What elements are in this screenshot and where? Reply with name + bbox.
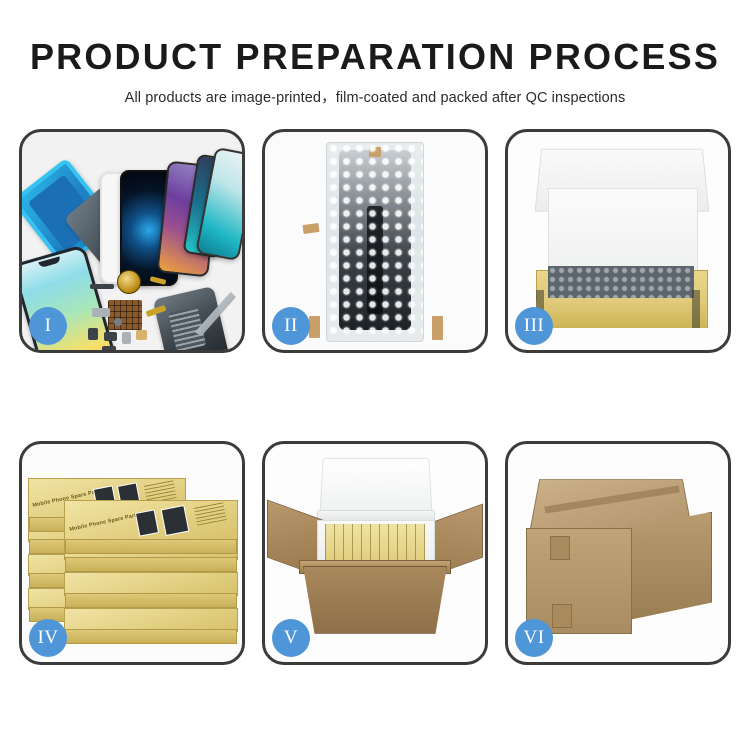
process-step-3: III bbox=[505, 129, 731, 353]
carton-body-graphic bbox=[303, 566, 447, 634]
product-preparation-infographic: PRODUCT PREPARATION PROCESS All products… bbox=[0, 0, 750, 750]
component-chip bbox=[122, 332, 131, 344]
speaker-module-graphic bbox=[117, 270, 141, 294]
process-step-6: VI bbox=[505, 441, 731, 665]
page-title: PRODUCT PREPARATION PROCESS bbox=[0, 38, 750, 76]
component-chip bbox=[90, 284, 114, 289]
component-chip bbox=[114, 318, 122, 326]
carton-tape-patch bbox=[550, 536, 570, 560]
bubble-texture bbox=[327, 142, 423, 340]
step-badge-2: II bbox=[272, 307, 310, 345]
process-step-2: II bbox=[262, 129, 488, 353]
carton-front-graphic bbox=[526, 528, 632, 634]
phone-housing-graphic bbox=[153, 286, 230, 350]
component-chip bbox=[88, 328, 98, 340]
tape-strip bbox=[432, 316, 443, 340]
carton-side-graphic bbox=[630, 512, 712, 620]
component-chip bbox=[136, 330, 147, 340]
process-step-1: I bbox=[19, 129, 245, 353]
stacked-box bbox=[64, 608, 238, 632]
tape-strip bbox=[302, 223, 319, 234]
tape-strip bbox=[309, 316, 320, 338]
header: PRODUCT PREPARATION PROCESS All products… bbox=[0, 0, 750, 107]
process-step-4: Mobile Phone Spare Parts Mobile Phone Sp… bbox=[19, 441, 245, 665]
carton-tape-patch bbox=[552, 604, 572, 628]
component-chip bbox=[92, 308, 110, 317]
component-chip bbox=[104, 332, 117, 341]
step-badge-4: IV bbox=[29, 619, 67, 657]
logic-board-graphic bbox=[108, 300, 142, 330]
process-step-grid: I II bbox=[19, 129, 731, 665]
step-badge-5: V bbox=[272, 619, 310, 657]
page-subtitle: All products are image-printed，film-coat… bbox=[0, 86, 750, 107]
bubble-filler-graphic bbox=[548, 266, 694, 298]
process-step-5: V bbox=[262, 441, 488, 665]
box-phone-image bbox=[161, 505, 190, 536]
foam-sheet-graphic bbox=[548, 188, 698, 276]
step-badge-6: VI bbox=[515, 619, 553, 657]
box-front-graphic bbox=[536, 300, 706, 328]
box-phone-image bbox=[135, 509, 159, 536]
stacked-box-top-front: Mobile Phone Spare Parts bbox=[64, 500, 238, 542]
component-chip bbox=[102, 346, 116, 350]
step-badge-1: I bbox=[29, 307, 67, 345]
stacked-box bbox=[64, 572, 238, 596]
box-edge-right bbox=[692, 290, 700, 328]
step-badge-3: III bbox=[515, 307, 553, 345]
